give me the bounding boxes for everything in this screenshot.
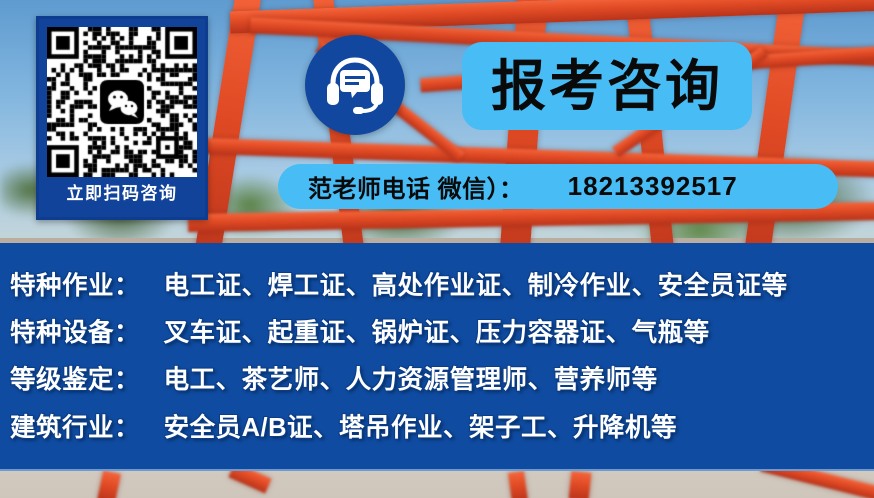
contact-phone-badge[interactable]: 范老师电话 微信）： 18213392517	[278, 164, 838, 209]
consult-title-text: 报考咨询	[491, 59, 723, 114]
info-row-value: 叉车证、起重证、锅炉证、压力容器证、气瓶等	[164, 319, 710, 347]
promo-poster: 立即扫码咨询 报考咨询 范老师电话 微信）： 18213392517 特种作业：…	[0, 0, 874, 498]
contact-label: 范老师电话 微信）：	[308, 169, 524, 204]
crane-beam	[569, 471, 592, 498]
info-row-value: 电工、茶艺师、人力资源管理师、营养师等	[164, 366, 658, 394]
info-row-label: 特种作业：	[10, 272, 140, 300]
info-row-value: 电工证、焊工证、高处作业证、制冷作业、安全员证等	[164, 272, 788, 300]
headset-support-icon	[305, 35, 405, 135]
certificate-categories-panel: 特种作业： 电工证、焊工证、高处作业证、制冷作业、安全员证等 特种设备： 叉车证…	[0, 243, 874, 471]
panel-bottom-divider	[0, 469, 874, 471]
info-row-special-equipment: 特种设备： 叉车证、起重证、锅炉证、压力容器证、气瓶等	[10, 312, 710, 349]
info-row-label: 等级鉴定：	[10, 366, 140, 394]
qr-code-card[interactable]: 立即扫码咨询	[36, 16, 208, 220]
contact-phone-number[interactable]: 18213392517	[568, 171, 738, 202]
info-row-label: 特种设备：	[10, 319, 140, 347]
qr-caption: 立即扫码咨询	[39, 179, 205, 209]
consult-title-badge: 报考咨询	[462, 42, 752, 130]
info-row-label: 建筑行业：	[10, 414, 140, 442]
qr-code-image[interactable]	[47, 27, 197, 177]
qr-code-canvas[interactable]	[47, 27, 197, 177]
info-row-construction-industry: 建筑行业： 安全员A/B证、塔吊作业、架子工、升降机等	[10, 407, 677, 444]
info-row-special-operations: 特种作业： 电工证、焊工证、高处作业证、制冷作业、安全员证等	[10, 265, 788, 302]
info-row-value: 安全员A/B证、塔吊作业、架子工、升降机等	[164, 414, 677, 442]
info-row-grade-appraisal: 等级鉴定： 电工、茶艺师、人力资源管理师、营养师等	[10, 359, 658, 396]
